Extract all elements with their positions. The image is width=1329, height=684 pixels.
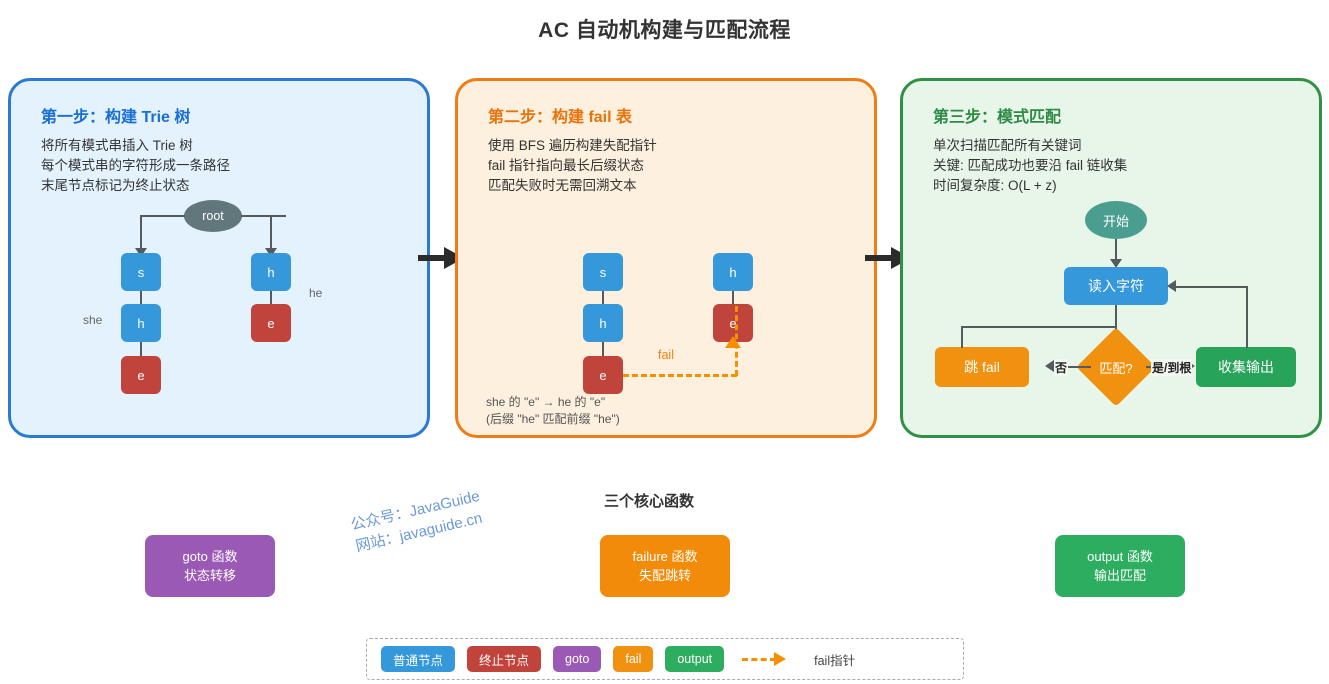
page-title: AC 自动机构建与匹配流程: [0, 14, 1329, 44]
fail-pointer-label: fail: [658, 348, 674, 362]
arrow-shaft: [865, 255, 893, 261]
core-function-failure-sub: 失配跳转: [639, 566, 691, 585]
trie-branch-label-he: he: [309, 286, 322, 300]
legend-item-goto: goto: [553, 646, 601, 672]
trie-node-e-right: e: [251, 304, 291, 342]
panel-step2-description: 使用 BFS 遍历构建失配指针 fail 指针指向最长后缀状态 匹配失败时无需回…: [488, 136, 657, 196]
trie-node-h-right: h: [251, 253, 291, 291]
trie-node-e-left: e: [121, 356, 161, 394]
edge-jumpfail-to-decision-top: [961, 326, 1116, 328]
core-function-goto-name: goto 函数: [183, 547, 238, 566]
trie-node-h-left: h: [121, 304, 161, 342]
panel-step2-build-fail: 第二步：构建 fail 表 使用 BFS 遍历构建失配指针 fail 指针指向最…: [455, 78, 877, 438]
flow-start-node: 开始: [1085, 201, 1147, 239]
fail-pointer-horizontal: [623, 374, 737, 377]
arrow-head: [774, 652, 786, 666]
panel-step1-build-trie: 第一步：构建 Trie 树 将所有模式串插入 Trie 树 每个模式串的字符形成…: [8, 78, 430, 438]
panel-step2-note: she 的 "e" → he 的 "e" (后缀 "he" 匹配前缀 "he"): [486, 394, 620, 428]
core-function-output-name: output 函数: [1087, 547, 1153, 566]
edge-root-right: [241, 215, 286, 217]
panel-step3-heading: 第三步：模式匹配: [933, 103, 1061, 127]
panel-step1-description: 将所有模式串插入 Trie 树 每个模式串的字符形成一条路径 末尾节点标记为终止…: [41, 136, 230, 196]
legend-item-normal-node: 普通节点: [381, 646, 455, 672]
flow-read-char-node: 读入字符: [1064, 267, 1168, 305]
flow-jump-fail-node: 跳 fail: [935, 347, 1029, 387]
core-function-output-sub: 输出匹配: [1094, 566, 1146, 585]
legend: 普通节点 终止节点 goto fail output fail指针: [366, 638, 964, 680]
flow-decision-label: 匹配?: [1082, 353, 1150, 381]
edge-label-yes: 是/到根: [1151, 359, 1192, 376]
legend-fail-arrow-label: fail指针: [814, 650, 855, 669]
legend-item-fail: fail: [613, 646, 653, 672]
legend-item-terminal-node: 终止节点: [467, 646, 541, 672]
trie-root-node: root: [184, 200, 242, 232]
edge-root-to-h: [270, 215, 272, 251]
legend-fail-arrow-icon: [742, 652, 794, 666]
edge-collect-to-read: [1175, 286, 1247, 288]
arrowhead-decision-to-jumpfail: [1045, 360, 1054, 372]
fail-node-e-left: e: [583, 356, 623, 394]
panel-step3-pattern-matching: 第三步：模式匹配 单次扫描匹配所有关键词 关键: 匹配成功也要沿 fail 链收…: [900, 78, 1322, 438]
core-function-goto-sub: 状态转移: [184, 566, 236, 585]
edge-label-no: 否: [1054, 359, 1068, 376]
core-function-output: output 函数 输出匹配: [1055, 535, 1185, 597]
watermark: 公众号：JavaGuide 网站：javaguide.cn: [349, 486, 487, 559]
edge-collect-up: [1246, 286, 1248, 348]
panel-step2-heading: 第二步：构建 fail 表: [488, 103, 632, 127]
arrowhead-collect-to-read: [1167, 280, 1176, 292]
fail-node-h-left: h: [583, 304, 623, 342]
trie-branch-label-she: she: [83, 313, 102, 327]
core-functions-title: 三个核心函数: [604, 490, 694, 511]
core-function-goto: goto 函数 状态转移: [145, 535, 275, 597]
diagram-canvas: AC 自动机构建与匹配流程 第一步：构建 Trie 树 将所有模式串插入 Tri…: [0, 0, 1329, 684]
core-function-failure-name: failure 函数: [632, 547, 697, 566]
fail-node-s: s: [583, 253, 623, 291]
panel-step1-heading: 第一步：构建 Trie 树: [41, 103, 190, 127]
core-function-failure: failure 函数 失配跳转: [600, 535, 730, 597]
edge-root-left: [140, 215, 185, 217]
fail-pointer-arrowhead: [725, 336, 741, 348]
flow-collect-output-node: 收集输出: [1196, 347, 1296, 387]
fail-node-h-right: h: [713, 253, 753, 291]
panel-step3-description: 单次扫描匹配所有关键词 关键: 匹配成功也要沿 fail 链收集 时间复杂度: …: [933, 136, 1127, 196]
edge-root-to-s: [140, 215, 142, 251]
trie-node-s: s: [121, 253, 161, 291]
edge-jumpfail-up: [961, 326, 963, 348]
legend-item-output: output: [665, 646, 724, 672]
dashed-line: [742, 658, 776, 661]
arrow-shaft: [418, 255, 446, 261]
